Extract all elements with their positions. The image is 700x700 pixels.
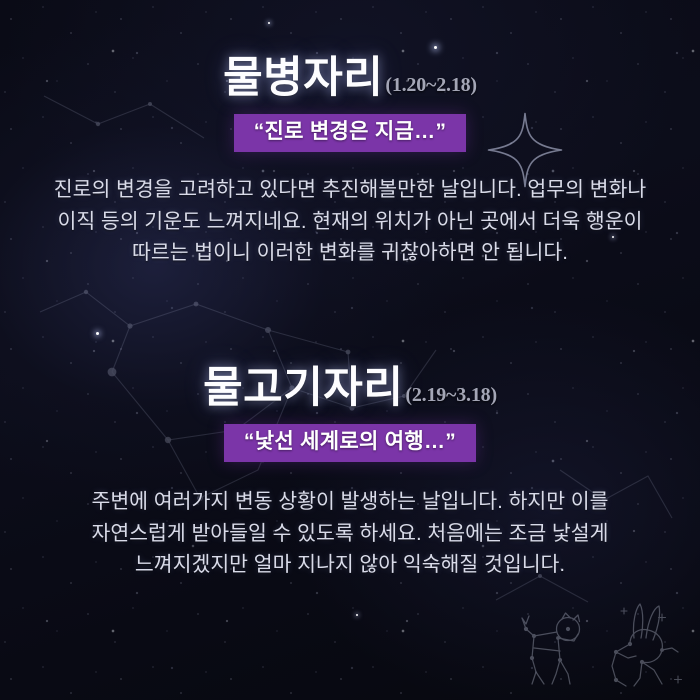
sign-body-text: 주변에 여러가지 변동 상황이 발생하는 날입니다. 하지만 이를 자연스럽게 … (50, 486, 650, 579)
sign-heading: 물고기자리(2.19~3.18) (0, 366, 700, 411)
sign-name: 물고기자리 (203, 366, 403, 411)
tagline-wrapper: “낯선 세계로의 여행…” (0, 424, 700, 462)
sign-heading: 물병자리(1.20~2.18) (0, 56, 700, 101)
sign-date-range: (1.20~2.18) (385, 74, 477, 97)
sign-tagline-badge: “진로 변경은 지금…” (234, 114, 467, 152)
sign-body-text: 진로의 변경을 고려하고 있다면 추진해볼만한 날입니다. 업무의 변화나 이직… (45, 174, 655, 267)
sign-tagline-badge: “낯선 세계로의 여행…” (224, 424, 476, 462)
sign-name: 물병자리 (223, 56, 383, 101)
tagline-wrapper: “진로 변경은 지금…” (0, 114, 700, 152)
sign-section-pisces: 물고기자리(2.19~3.18) “낯선 세계로의 여행…” 주변에 여러가지 … (0, 366, 700, 580)
sign-date-range: (2.19~3.18) (405, 384, 497, 407)
horoscope-content: 물병자리(1.20~2.18) “진로 변경은 지금…” 진로의 변경을 고려하… (0, 0, 700, 700)
horoscope-card: 물병자리(1.20~2.18) “진로 변경은 지금…” 진로의 변경을 고려하… (0, 0, 700, 700)
sign-section-aquarius: 물병자리(1.20~2.18) “진로 변경은 지금…” 진로의 변경을 고려하… (0, 56, 700, 268)
